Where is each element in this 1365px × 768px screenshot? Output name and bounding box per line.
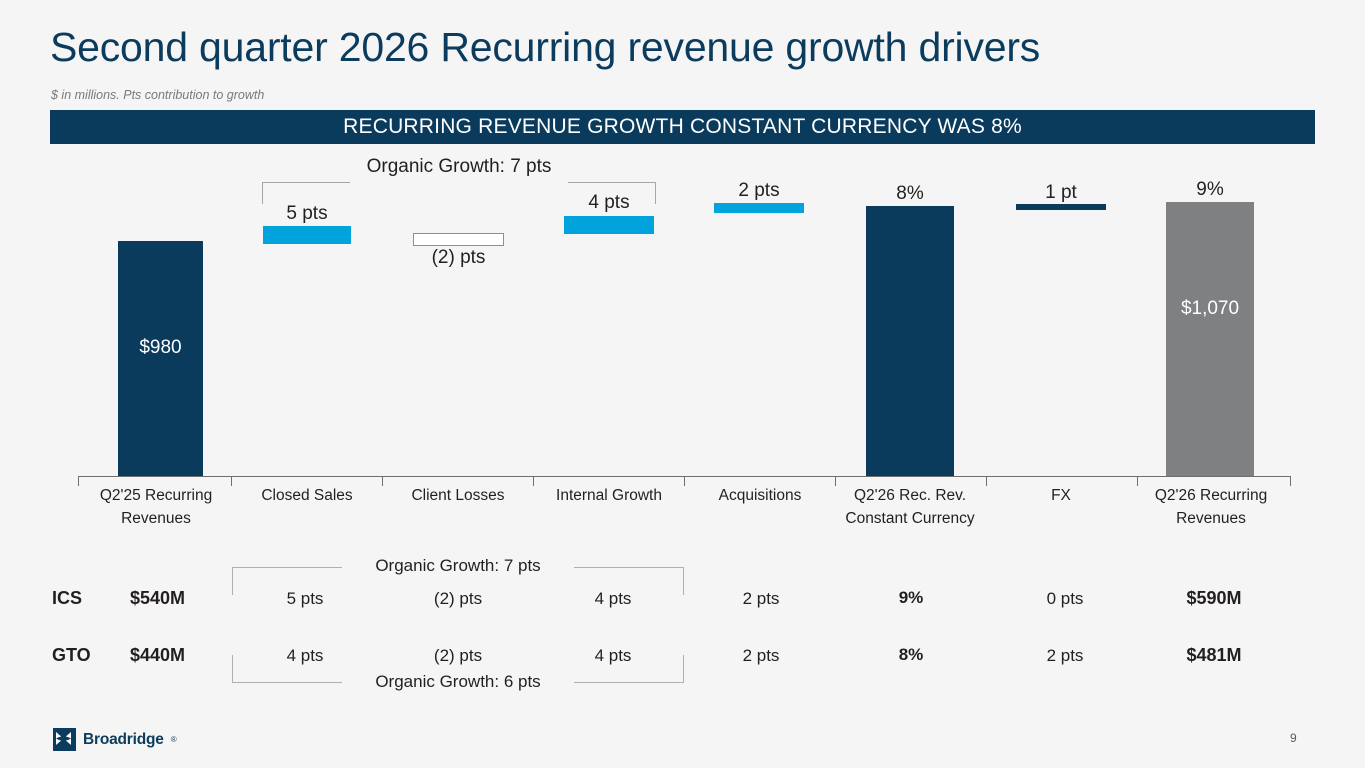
x-axis-label-line: Q2'26 Recurring — [1135, 484, 1287, 507]
table-cell-gto-acquisitions: 2 pts — [686, 646, 836, 666]
broadridge-logo-text: Broadridge — [83, 731, 164, 749]
x-axis-label-closed-sales: Closed Sales — [231, 484, 383, 507]
x-axis-label-line: Constant Currency — [834, 507, 986, 530]
bar-label-internal-growth: 4 pts — [564, 192, 654, 214]
headline-banner-text: RECURRING REVENUE GROWTH CONSTANT CURREN… — [343, 115, 1022, 139]
bar-label-acquisitions: 2 pts — [714, 180, 804, 202]
broadridge-logo-tm: ® — [171, 735, 177, 744]
x-axis-label-line: Client Losses — [382, 484, 534, 507]
x-axis-label-line: Revenues — [1135, 507, 1287, 530]
bar-acquisitions — [714, 203, 804, 213]
table-cell-gto-revenue: $440M — [130, 645, 185, 666]
bar-label-q226-constant-currency: 8% — [866, 183, 954, 205]
table-cell-ics-internal-growth: 4 pts — [538, 589, 688, 609]
bar-label-fx: 1 pt — [1016, 182, 1106, 204]
table-cell-gto-constant-currency: 8% — [836, 645, 986, 665]
table-cell-ics-fx: 0 pts — [990, 589, 1140, 609]
x-axis-tick — [1290, 477, 1291, 486]
table-row-label-gto: GTO — [52, 645, 91, 666]
broadridge-logo: Broadridge ® — [53, 728, 176, 751]
page-number: 9 — [1290, 731, 1297, 745]
table-cell-ics-acquisitions: 2 pts — [686, 589, 836, 609]
x-axis-label-line: FX — [985, 484, 1137, 507]
bar-closed-sales — [263, 226, 351, 244]
segment-table: Organic Growth: 7 pts ICS $540M 5 pts (2… — [0, 560, 1365, 700]
x-axis-label-acquisitions: Acquisitions — [684, 484, 836, 507]
table-cell-ics-constant-currency: 9% — [836, 588, 986, 608]
x-axis-label-line: Internal Growth — [533, 484, 685, 507]
x-axis-label-line: Acquisitions — [684, 484, 836, 507]
x-axis-label-line: Q2'26 Rec. Rev. — [834, 484, 986, 507]
bar-q226-constant-currency — [866, 206, 954, 476]
table-cell-gto-fx: 2 pts — [990, 646, 1140, 666]
bar-label-q226-recurring-revenues: 9% — [1166, 179, 1254, 201]
x-axis-label-line: Revenues — [80, 507, 232, 530]
x-axis-tick — [78, 477, 79, 486]
x-axis-label-q226-constant-currency: Q2'26 Rec. Rev. Constant Currency — [834, 484, 986, 530]
bar-value-q225: $980 — [118, 337, 203, 359]
table-cell-ics-revenue: $540M — [130, 588, 185, 609]
table-cell-gto-total: $481M — [1139, 645, 1289, 666]
table-row-label-ics: ICS — [52, 588, 82, 609]
table-organic-growth-label-top: Organic Growth: 7 pts — [308, 556, 608, 576]
x-axis-label-fx: FX — [985, 484, 1137, 507]
bar-fx — [1016, 204, 1106, 210]
x-axis-label-q226-recurring-revenues: Q2'26 Recurring Revenues — [1135, 484, 1287, 530]
headline-banner: RECURRING REVENUE GROWTH CONSTANT CURREN… — [50, 110, 1315, 144]
page-title: Second quarter 2026 Recurring revenue gr… — [50, 22, 1040, 72]
waterfall-chart: Organic Growth: 7 pts $980 5 pts (2) pts… — [0, 150, 1365, 480]
bar-internal-growth — [564, 216, 654, 234]
x-axis-label-q225-recurring-revenues: Q2'25 Recurring Revenues — [80, 484, 232, 530]
bar-client-losses — [413, 233, 504, 246]
x-axis-label-internal-growth: Internal Growth — [533, 484, 685, 507]
broadridge-mark-icon — [53, 728, 76, 751]
bar-label-client-losses: (2) pts — [413, 247, 504, 269]
bar-label-closed-sales: 5 pts — [263, 203, 351, 225]
page-subtitle: $ in millions. Pts contribution to growt… — [51, 88, 264, 102]
x-axis-label-line: Q2'25 Recurring — [80, 484, 232, 507]
table-cell-ics-total: $590M — [1139, 588, 1289, 609]
table-cell-ics-closed-sales: 5 pts — [230, 589, 380, 609]
slide-root: Second quarter 2026 Recurring revenue gr… — [0, 0, 1365, 768]
x-axis-label-line: Closed Sales — [231, 484, 383, 507]
table-organic-growth-label-bottom: Organic Growth: 6 pts — [308, 672, 608, 692]
table-cell-ics-client-losses: (2) pts — [383, 589, 533, 609]
x-axis-label-client-losses: Client Losses — [382, 484, 534, 507]
bar-value-q226-recurring-revenues: $1,070 — [1160, 298, 1260, 320]
chart-organic-growth-label: Organic Growth: 7 pts — [299, 156, 619, 178]
bar-q226-recurring-revenues — [1166, 202, 1254, 476]
